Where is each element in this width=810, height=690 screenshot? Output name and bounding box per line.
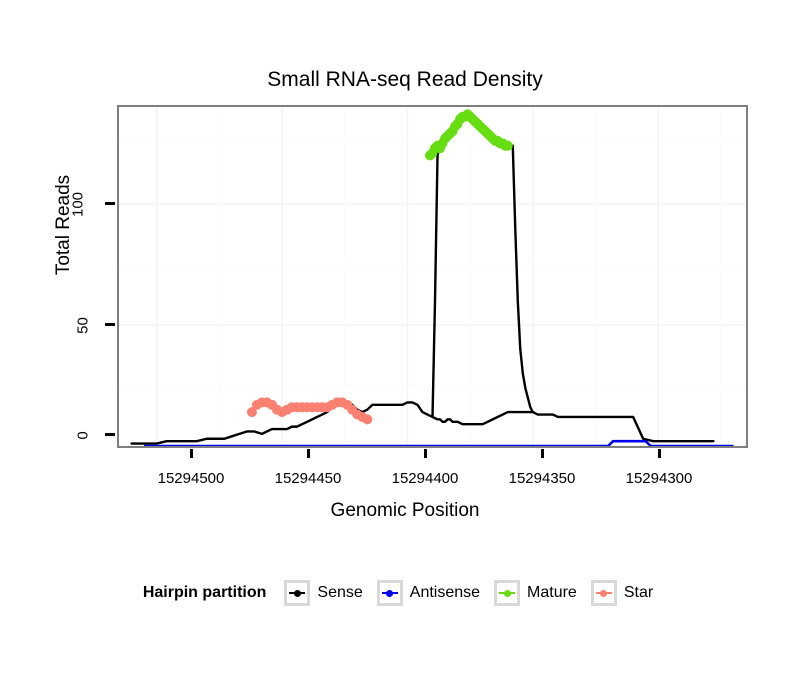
page-title: Small RNA-seq Read Density <box>0 68 810 92</box>
plot-panel <box>117 105 748 448</box>
y-tick-label-50: 50 <box>75 306 92 346</box>
legend-item-star[interactable]: Star <box>591 580 653 606</box>
legend-label-star: Star <box>624 584 653 602</box>
x-tick-label-3: 15294350 <box>487 470 597 487</box>
legend: Hairpin partition Sense Antisense Mature… <box>0 580 810 606</box>
y-tick-mark-0 <box>105 433 115 436</box>
x-axis-label: Genomic Position <box>0 500 810 522</box>
x-tick-label-2: 15294400 <box>370 470 480 487</box>
x-tick-label-0: 15294500 <box>136 470 246 487</box>
y-tick-mark-100 <box>105 202 115 205</box>
legend-item-sense[interactable]: Sense <box>284 580 362 606</box>
legend-item-mature[interactable]: Mature <box>494 580 577 606</box>
y-tick-mark-50 <box>105 323 115 326</box>
x-tick-mark-0 <box>190 449 193 458</box>
y-axis-label: Total Reads <box>53 115 75 335</box>
legend-label-sense: Sense <box>317 584 362 602</box>
x-tick-mark-4 <box>658 449 661 458</box>
x-tick-label-1: 15294450 <box>253 470 363 487</box>
x-tick-mark-1 <box>307 449 310 458</box>
legend-label-antisense: Antisense <box>410 584 480 602</box>
x-tick-mark-3 <box>541 449 544 458</box>
legend-item-antisense[interactable]: Antisense <box>377 580 480 606</box>
legend-label-mature: Mature <box>527 584 577 602</box>
legend-key-mature-icon <box>494 580 520 606</box>
legend-title: Hairpin partition <box>143 584 267 602</box>
plot-area <box>119 107 746 446</box>
chart-root: Small RNA-seq Read Density Total Reads G… <box>0 0 810 690</box>
data-series-layer <box>119 107 746 446</box>
legend-key-antisense-icon <box>377 580 403 606</box>
x-tick-label-4: 15294300 <box>604 470 714 487</box>
x-tick-mark-2 <box>424 449 427 458</box>
legend-key-star-icon <box>591 580 617 606</box>
y-tick-label-0: 0 <box>75 416 92 456</box>
legend-key-sense-icon <box>284 580 310 606</box>
y-tick-label-100: 100 <box>70 185 87 225</box>
